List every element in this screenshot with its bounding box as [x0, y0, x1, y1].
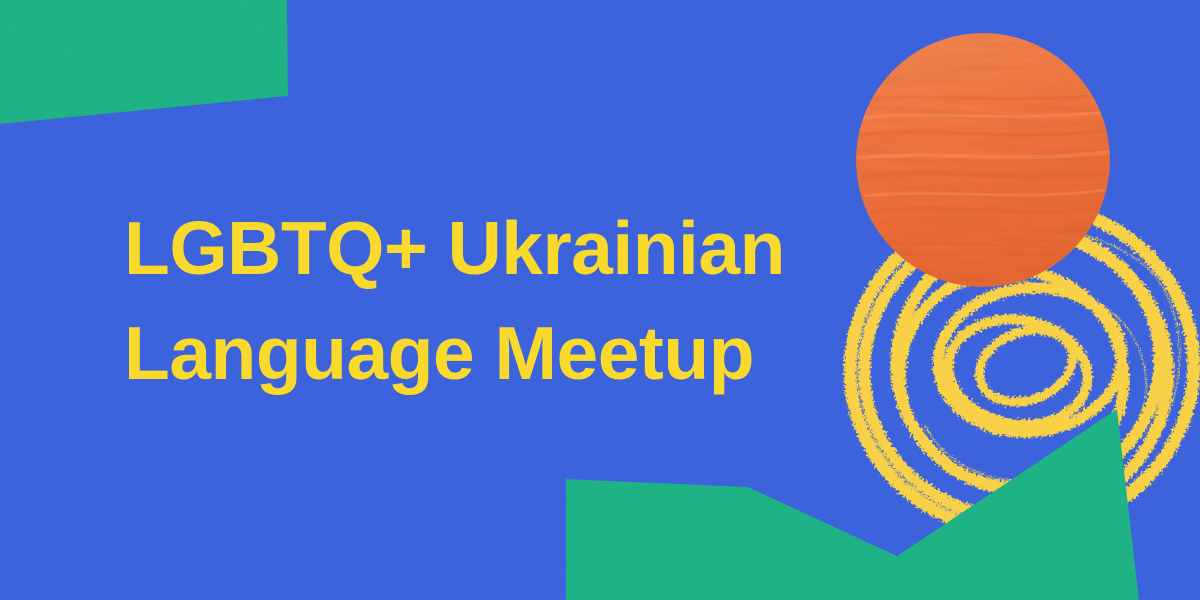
title-layer: LGBTQ+ Ukrainian Language Meetup	[0, 0, 1200, 600]
banner-title: LGBTQ+ Ukrainian Language Meetup	[124, 196, 824, 406]
banner-title-line-2: Language Meetup	[124, 301, 824, 406]
event-banner: LGBTQ+ Ukrainian Language Meetup	[0, 0, 1200, 600]
banner-title-line-1: LGBTQ+ Ukrainian	[124, 196, 824, 301]
